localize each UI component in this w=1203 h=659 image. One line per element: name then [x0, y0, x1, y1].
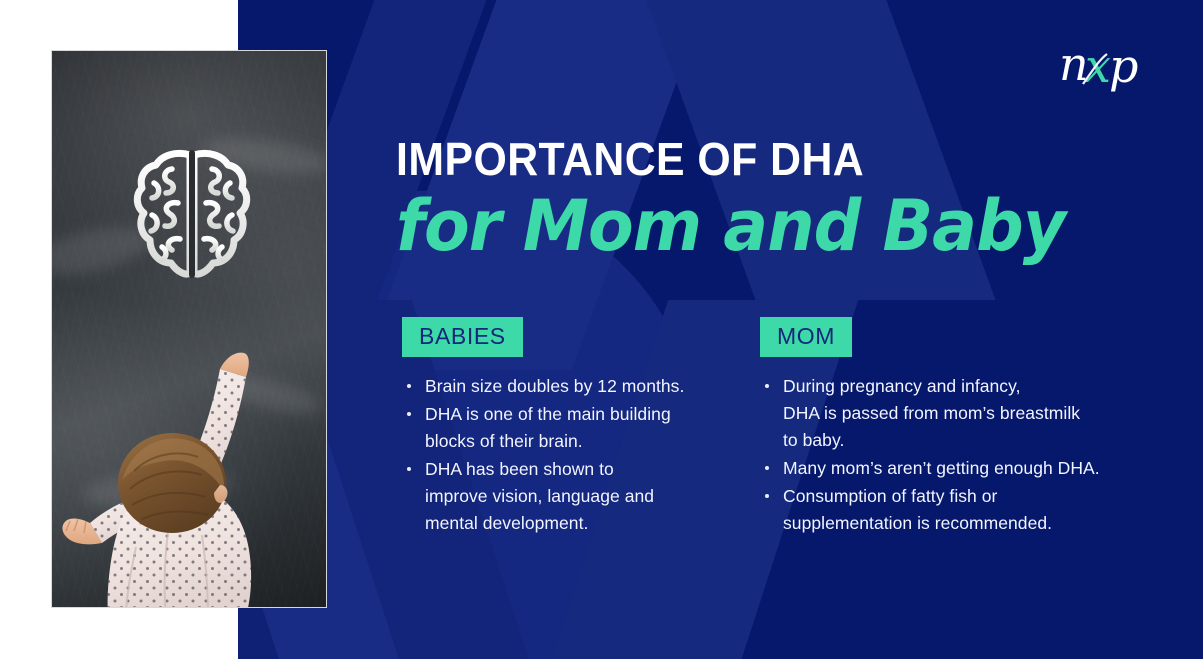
page-subtitle: for Mom and Baby [396, 186, 1061, 266]
bullet-list-babies: Brain size doubles by 12 months. DHA is … [402, 373, 732, 537]
list-item: During pregnancy and infancy, DHA is pas… [760, 373, 1140, 454]
list-item: Consumption of fatty fish or supplementa… [760, 483, 1140, 537]
column-mom: MOM During pregnancy and infancy, DHA is… [760, 317, 1140, 538]
list-item: Brain size doubles by 12 months. [402, 373, 732, 400]
headline-block: IMPORTANCE OF DHA for Mom and Baby [396, 134, 1096, 266]
badge-mom: MOM [760, 317, 852, 357]
logo-letter-p: p [1109, 40, 1138, 93]
list-item: Many mom’s aren’t getting enough DHA. [760, 455, 1140, 482]
logo-letter-x: x [1085, 40, 1111, 93]
nxp-logo: n x p [1059, 40, 1169, 102]
chalkboard-photo [52, 51, 326, 607]
child-figure [60, 351, 310, 607]
chalk-brain-icon [132, 143, 252, 293]
bullet-list-mom: During pregnancy and infancy, DHA is pas… [760, 373, 1140, 537]
badge-babies: BABIES [402, 317, 523, 357]
list-item: DHA is one of the main building blocks o… [402, 401, 732, 455]
infographic-canvas: n x p IMPORTANCE OF DHA for Mom and Baby… [0, 0, 1203, 659]
list-item: DHA has been shown to improve vision, la… [402, 456, 732, 537]
page-title: IMPORTANCE OF DHA [396, 134, 1047, 184]
column-babies: BABIES Brain size doubles by 12 months. … [402, 317, 732, 538]
